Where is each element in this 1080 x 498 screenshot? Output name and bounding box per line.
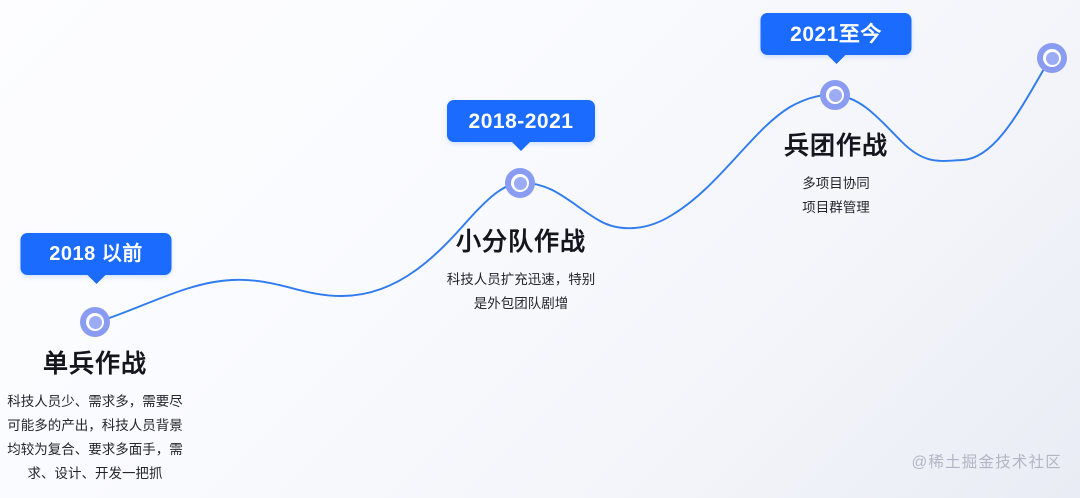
- stage-desc-line: 是外包团队剧增: [447, 292, 596, 316]
- node-ring-icon-3: [826, 86, 844, 104]
- stage-desc-line: 可能多的产出，科技人员背景: [7, 414, 183, 438]
- badge-tail-icon-2: [511, 141, 531, 151]
- stage-desc-line: 多项目协同: [784, 172, 888, 196]
- badge-tail-icon-3: [826, 54, 846, 64]
- stage-desc-line: 求、设计、开发一把抓: [7, 462, 183, 486]
- stage-badge-2[interactable]: 2018-2021: [447, 100, 595, 142]
- node-core-icon-2: [514, 177, 527, 190]
- node-core-icon-1: [89, 316, 102, 329]
- stage-desc-2: 科技人员扩充迅速，特别 是外包团队剧增: [447, 268, 596, 316]
- timeline-node-1[interactable]: [80, 307, 110, 337]
- timeline-node-3[interactable]: [820, 80, 850, 110]
- stage-desc-1: 科技人员少、需求多，需要尽 可能多的产出，科技人员背景 均较为复合、要求多面手，…: [7, 390, 183, 486]
- timeline-diagram: 2018 以前 单兵作战 科技人员少、需求多，需要尽 可能多的产出，科技人员背景…: [0, 0, 1080, 498]
- stage-desc-line: 项目群管理: [784, 196, 888, 220]
- stage-title-2: 小分队作战: [447, 228, 596, 257]
- node-core-icon-3: [829, 89, 842, 102]
- timeline-node-4[interactable]: [1037, 43, 1067, 73]
- stage-badge-1[interactable]: 2018 以前: [21, 233, 172, 275]
- node-core-icon-4: [1046, 52, 1059, 65]
- node-ring-icon-2: [511, 174, 529, 192]
- stage-title-1: 单兵作战: [7, 350, 183, 379]
- stage-badge-label-2: 2018-2021: [469, 111, 574, 132]
- stage-text-3: 兵团作战 多项目协同 项目群管理: [784, 132, 888, 220]
- stage-desc-line: 科技人员扩充迅速，特别: [447, 268, 596, 292]
- badge-tail-icon-1: [86, 274, 106, 284]
- stage-badge-label-3: 2021至今: [790, 24, 882, 45]
- timeline-node-2[interactable]: [505, 168, 535, 198]
- stage-text-2: 小分队作战 科技人员扩充迅速，特别 是外包团队剧增: [447, 228, 596, 316]
- node-ring-icon-4: [1043, 49, 1061, 67]
- watermark: @稀土掘金技术社区: [911, 450, 1062, 472]
- stage-title-3: 兵团作战: [784, 132, 888, 161]
- stage-badge-label-1: 2018 以前: [49, 244, 143, 264]
- stage-badge-3[interactable]: 2021至今: [761, 13, 912, 55]
- stage-desc-3: 多项目协同 项目群管理: [784, 172, 888, 220]
- stage-desc-line: 科技人员少、需求多，需要尽: [7, 390, 183, 414]
- stage-text-1: 单兵作战 科技人员少、需求多，需要尽 可能多的产出，科技人员背景 均较为复合、要…: [7, 350, 183, 486]
- node-ring-icon-1: [86, 313, 104, 331]
- stage-desc-line: 均较为复合、要求多面手，需: [7, 438, 183, 462]
